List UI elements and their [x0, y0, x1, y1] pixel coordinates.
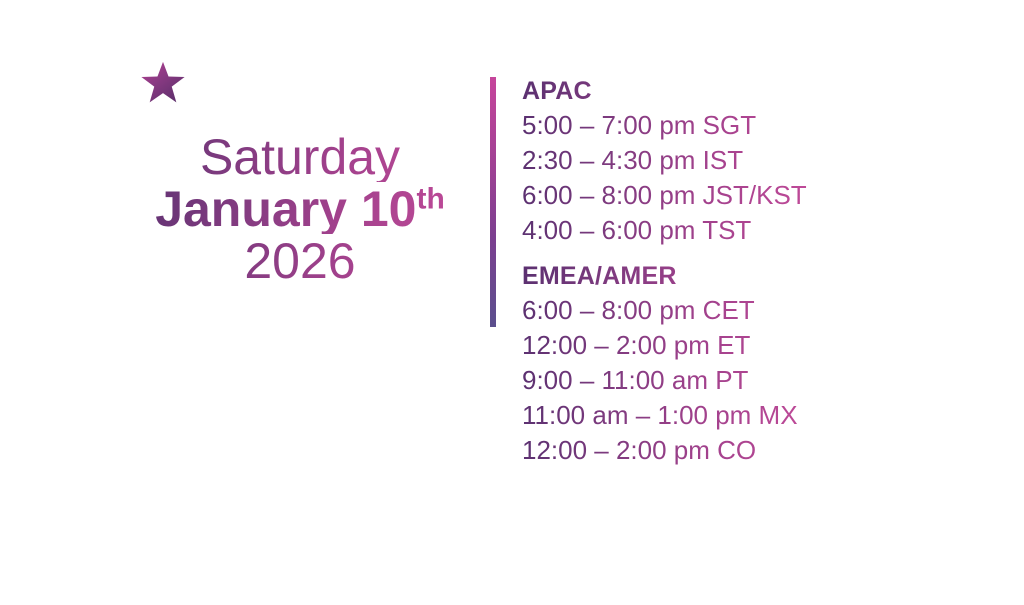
event-time-card: Saturday January 10th 2026 APAC 5:00 – 7…: [0, 0, 1024, 605]
time-slot: 5:00 – 7:00 pm SGT: [522, 108, 822, 143]
time-slot: 6:00 – 8:00 pm CET: [522, 293, 822, 328]
star-row: [120, 60, 480, 116]
time-slot: 2:30 – 4:30 pm IST: [522, 143, 822, 178]
year: 2026: [120, 236, 480, 286]
month-day-text: January 10: [155, 181, 416, 237]
time-slot: 12:00 – 2:00 pm ET: [522, 328, 822, 363]
vertical-divider: [490, 77, 496, 327]
time-slot: 11:00 am – 1:00 pm MX: [522, 398, 822, 433]
region-group-apac: APAC 5:00 – 7:00 pm SGT 2:30 – 4:30 pm I…: [522, 74, 822, 248]
region-title: APAC: [522, 74, 822, 108]
date-lines: Saturday January 10th 2026: [120, 132, 480, 286]
time-slot: 12:00 – 2:00 pm CO: [522, 433, 822, 468]
region-title: EMEA/AMER: [522, 259, 822, 293]
date-block: Saturday January 10th 2026: [120, 60, 480, 286]
month-day: January 10th: [120, 184, 480, 234]
time-slot: 9:00 – 11:00 am PT: [522, 363, 822, 398]
time-slot: 6:00 – 8:00 pm JST/KST: [522, 178, 822, 213]
time-slot: 4:00 – 6:00 pm TST: [522, 213, 822, 248]
star-icon: [140, 60, 186, 106]
ordinal-suffix: th: [416, 182, 444, 215]
schedule-block: APAC 5:00 – 7:00 pm SGT 2:30 – 4:30 pm I…: [522, 74, 822, 468]
region-group-emea-amer: EMEA/AMER 6:00 – 8:00 pm CET 12:00 – 2:0…: [522, 259, 822, 468]
day-name: Saturday: [120, 132, 480, 182]
